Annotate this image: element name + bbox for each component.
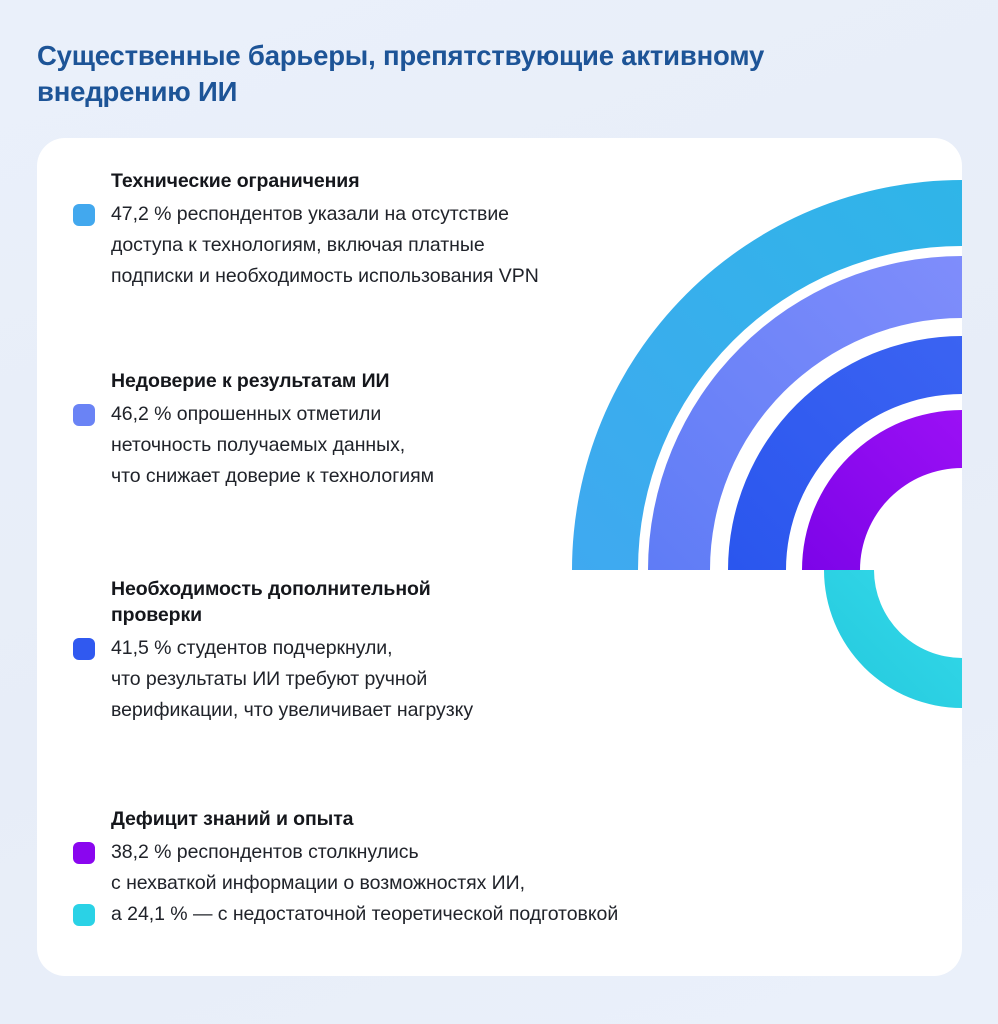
radial-bar-theory-gap (824, 570, 962, 708)
block-heading: Технические ограничения (111, 168, 793, 194)
block-heading: Необходимость дополнительной проверки (111, 576, 793, 628)
block-knowledge-gap: Дефицит знаний и опыта 38,2 % респондент… (73, 806, 793, 930)
page-background: Существенные барьеры, препятствующие акт… (0, 0, 998, 1024)
content-card: Технические ограничения 47,2 % респонден… (37, 138, 962, 976)
block-heading: Недоверие к результатам ИИ (111, 368, 793, 394)
legend-swatch-theory-gap (73, 904, 95, 926)
block-description: 46,2 % опрошенных отметили неточность по… (111, 399, 793, 491)
block-distrust: Недоверие к результатам ИИ 46,2 % опроше… (73, 368, 793, 492)
legend-swatch-knowledge-gap (73, 842, 95, 864)
radial-bar-knowledge-gap (802, 410, 962, 570)
block-heading: Дефицит знаний и опыта (111, 806, 793, 832)
block-verification: Необходимость дополнительной проверки 41… (73, 576, 793, 726)
block-description: 41,5 % студентов подчеркнули, что резуль… (111, 633, 793, 725)
block-technical-limits: Технические ограничения 47,2 % респонден… (73, 168, 793, 292)
block-description: 38,2 % респондентов столкнулись с нехват… (111, 837, 793, 929)
block-description: 47,2 % респондентов указали на отсутстви… (111, 199, 793, 291)
page-title: Существенные барьеры, препятствующие акт… (37, 38, 917, 111)
legend-swatch-verification (73, 638, 95, 660)
legend-swatch-technical-limits (73, 204, 95, 226)
legend-swatch-distrust (73, 404, 95, 426)
